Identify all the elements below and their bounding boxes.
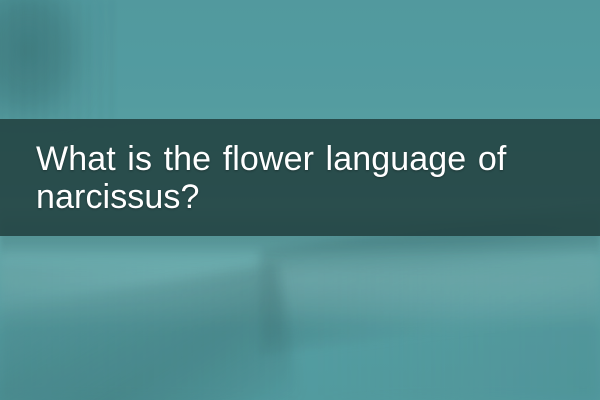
question-image-card: What is the flower language of narcissus…	[0, 0, 600, 400]
question-caption: What is the flower language of narcissus…	[0, 140, 600, 216]
caption-band: What is the flower language of narcissus…	[0, 119, 600, 236]
